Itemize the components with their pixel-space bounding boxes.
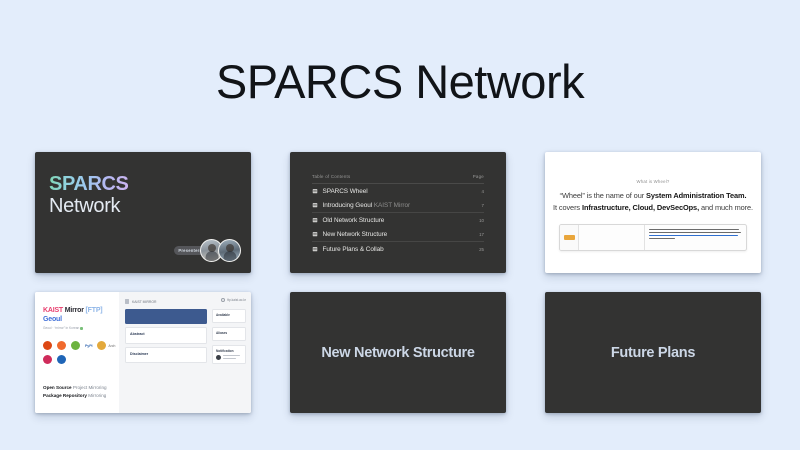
slide-body: “Wheel” is the name of our System Admini… [545, 190, 761, 213]
text-line [223, 358, 236, 359]
toc-item-page: 4 [482, 189, 484, 194]
toc-header: Table of Contents Page [312, 174, 484, 184]
bullet-bold: Open Source [43, 385, 72, 390]
toc-header-right: Page [473, 174, 484, 179]
building-icon [312, 246, 318, 252]
highlight-chip [564, 235, 575, 240]
wiki-table-screenshot [559, 224, 747, 251]
r-project-logo [57, 355, 66, 364]
brand-network: Network [49, 195, 128, 218]
building-icon [312, 217, 318, 223]
arch-logo-pair: Arch [97, 341, 115, 350]
toc-header-left: Table of Contents [312, 174, 350, 179]
toc-item-label: SPARCS Wheel [323, 188, 368, 195]
line1-bold: System Administration Team. [646, 191, 746, 200]
text-line [649, 238, 675, 240]
browser-columns: Abstract Disclaimer [125, 309, 246, 368]
slide-table-of-contents[interactable]: Table of Contents Page SPARCS Wheel 4 In… [290, 152, 506, 273]
avatar [218, 239, 241, 262]
toc-group: Old Network Structure 10 New Network Str… [312, 213, 484, 242]
sidebar-card-title: Aliases [216, 331, 242, 335]
pypi-logo: PyPI [85, 344, 92, 348]
wiki-table-cell-text [645, 225, 746, 250]
slide-title-slide[interactable]: SPARCS Network Presenters [35, 152, 251, 273]
mirror-subtitle: Geoul · “mirror” in Korean [43, 326, 111, 330]
toc: Table of Contents Page SPARCS Wheel 4 In… [312, 174, 484, 256]
toc-item-page: 7 [482, 203, 484, 208]
browser-url: ftp.kaist.ac.kr [227, 298, 246, 302]
heading-ftp: [FTP] [84, 307, 103, 314]
wiki-table-cell-blank [579, 225, 645, 250]
title-block: SPARCS Network [49, 174, 128, 218]
mirror-logos: PyPI Arch [43, 341, 117, 364]
building-icon [312, 188, 318, 194]
toc-item-page: 10 [479, 218, 484, 223]
toc-item-sublabel: KAIST Mirror [374, 202, 410, 209]
sidebar-card-title: Available [216, 313, 242, 317]
sidebar-card-title: Notification [216, 349, 242, 353]
line2-prefix: It covers [553, 203, 582, 212]
document-column: Abstract Disclaimer [125, 309, 207, 368]
toc-group: Future Plans & Collab 25 [312, 242, 484, 256]
toc-item-page: 17 [479, 232, 484, 237]
section-title: New Network Structure [321, 345, 474, 361]
slide-kaist-mirror-geoul[interactable]: KAIST Mirror [FTP] Geoul Geoul · “mirror… [35, 292, 251, 413]
notice-banner [125, 309, 207, 324]
mirror-bullet: Package Repository Mirroring [43, 392, 107, 400]
mirror-info-panel: KAIST Mirror [FTP] Geoul Geoul · “mirror… [35, 292, 119, 413]
text-line [649, 229, 739, 231]
arch-logo-label: Arch [108, 344, 115, 348]
brand-sparcs: SPARCS [49, 174, 128, 195]
slide-future-plans[interactable]: Future Plans [545, 292, 761, 413]
line1-prefix: “Wheel” is the name of our [560, 191, 646, 200]
toc-item-label: Introducing Geoul [323, 202, 373, 209]
notification-item [216, 355, 242, 360]
line2-suffix: and much more. [699, 203, 753, 212]
heading-geoul: Geoul [43, 315, 111, 325]
presenters-group: Presenters [174, 239, 241, 262]
line2-bold: Infrastructure, Cloud, DevSecOps, [582, 203, 699, 212]
notification-text [223, 355, 242, 360]
heading-kaist: KAIST [43, 307, 63, 314]
status-dot-icon [80, 327, 83, 330]
mirror-heading: KAIST Mirror [FTP] [43, 306, 111, 315]
toc-row[interactable]: Old Network Structure 10 [312, 213, 484, 227]
slide-grid: SPARCS Network Presenters Table of Conte… [35, 152, 765, 413]
arch-logo [97, 341, 106, 350]
bullet-bold: Package Repository [43, 393, 87, 398]
page-title: SPARCS Network [0, 52, 800, 112]
page-icon [125, 299, 129, 304]
doc-section-title: Disclaimer [130, 352, 202, 356]
debian-logo [43, 355, 52, 364]
wheel-definition-line-1: “Wheel” is the name of our System Admini… [545, 190, 761, 202]
text-line [223, 355, 240, 356]
slide-what-is-wheel[interactable]: What is Wheel? “Wheel” is the name of ou… [545, 152, 761, 273]
toc-row[interactable]: New Network Structure 17 [312, 227, 484, 241]
sidebar-card: Aliases [212, 327, 246, 341]
toc-row[interactable]: Future Plans & Collab 25 [312, 242, 484, 256]
toc-item-page: 25 [479, 247, 484, 252]
doc-section: Disclaimer [125, 347, 207, 364]
toc-row[interactable]: Introducing Geoul KAIST Mirror 7 [312, 198, 484, 212]
toc-group: SPARCS Wheel 4 Introducing Geoul KAIST M… [312, 184, 484, 213]
doc-section: Abstract [125, 327, 207, 344]
browser-tab-label: KAIST MIRROR [132, 300, 156, 304]
slide-kicker: What is Wheel? [545, 179, 761, 184]
building-icon [312, 202, 318, 208]
toc-row[interactable]: SPARCS Wheel 4 [312, 184, 484, 198]
wiki-table-cell-icon [560, 225, 579, 250]
sidebar-column: Available Aliases Notification [212, 309, 246, 368]
doc-section-title: Abstract [130, 332, 202, 336]
slide-new-network-structure[interactable]: New Network Structure [290, 292, 506, 413]
wheel-definition-line-2: It covers Infrastructure, Cloud, DevSecO… [545, 202, 761, 214]
browser-url-bar: ftp.kaist.ac.kr [221, 298, 246, 302]
bullet-rest: Mirroring [87, 393, 106, 398]
text-line [649, 232, 741, 234]
linux-mint-logo [71, 341, 80, 350]
browser-screenshot: ftp.kaist.ac.kr KAIST MIRROR Abstract [119, 292, 251, 413]
fedora-logo [57, 341, 66, 350]
toc-item-label: Future Plans & Collab [323, 246, 384, 253]
bullet-rest: Project Mirroring [72, 385, 107, 390]
clock-icon [221, 298, 225, 302]
text-line-link [649, 235, 738, 237]
heading-mirror: Mirror [63, 307, 84, 314]
mirror-subtitle-text: Geoul · “mirror” in Korean [43, 326, 79, 330]
ubuntu-logo [43, 341, 52, 350]
avatar [216, 355, 221, 360]
toc-item-label: Old Network Structure [323, 217, 385, 224]
sidebar-card: Available [212, 309, 246, 323]
section-title: Future Plans [611, 345, 695, 361]
mirror-bullet: Open Source Project Mirroring [43, 384, 107, 392]
building-icon [312, 231, 318, 237]
mirror-bullets: Open Source Project Mirroring Package Re… [43, 384, 107, 400]
toc-item-label: New Network Structure [323, 231, 388, 238]
sidebar-card: Notification [212, 345, 246, 364]
